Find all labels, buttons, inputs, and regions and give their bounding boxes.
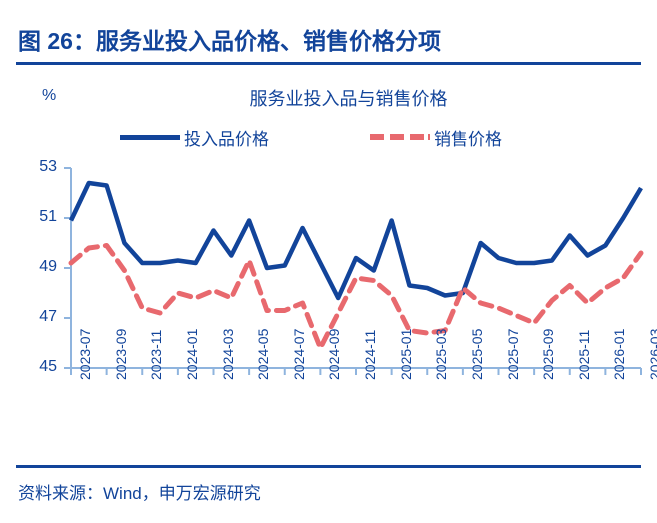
y-axis-tick-label: 51	[17, 208, 57, 226]
x-axis-tick-label: 2025-05	[469, 329, 485, 380]
y-axis-tick-label: 45	[17, 358, 57, 376]
chart-container: % 服务业投入品与销售价格 投入品价格 销售价格 45474951532023-…	[0, 68, 657, 463]
y-axis-tick-label: 53	[17, 158, 57, 176]
x-axis-tick-label: 2025-01	[398, 329, 414, 380]
plot-svg	[0, 68, 657, 463]
plot-area: 45474951532023-072023-092023-112024-0120…	[0, 68, 657, 463]
x-axis-tick-label: 2024-11	[362, 330, 378, 380]
x-axis-tick-label: 2025-11	[576, 330, 592, 380]
title-divider	[16, 62, 641, 65]
y-axis-tick-label: 47	[17, 308, 57, 326]
x-axis-tick-label: 2025-03	[433, 329, 449, 380]
x-axis-tick-label: 2023-09	[113, 329, 129, 380]
figure-footer: 资料来源：Wind，申万宏源研究	[0, 465, 657, 523]
x-axis-tick-label: 2023-11	[148, 330, 164, 380]
y-axis-tick-label: 49	[17, 258, 57, 276]
x-axis-tick-label: 2024-05	[255, 329, 271, 380]
x-axis-tick-label: 2025-09	[540, 329, 556, 380]
x-axis-tick-label: 2024-07	[291, 329, 307, 380]
x-axis-tick-label: 2026-03	[647, 329, 657, 380]
x-axis-tick-label: 2025-07	[505, 329, 521, 380]
x-axis-tick-label: 2026-01	[611, 329, 627, 380]
footer-divider	[16, 465, 641, 468]
x-axis-tick-label: 2024-09	[326, 329, 342, 380]
x-axis-tick-label: 2024-01	[184, 329, 200, 380]
x-axis-tick-label: 2024-03	[220, 329, 236, 380]
page-title: 图 26：服务业投入品价格、销售价格分项	[18, 22, 441, 56]
x-axis-tick-label: 2023-07	[77, 329, 93, 380]
figure-header: 图 26：服务业投入品价格、销售价格分项	[0, 0, 657, 68]
source-note: 资料来源：Wind，申万宏源研究	[18, 479, 261, 504]
